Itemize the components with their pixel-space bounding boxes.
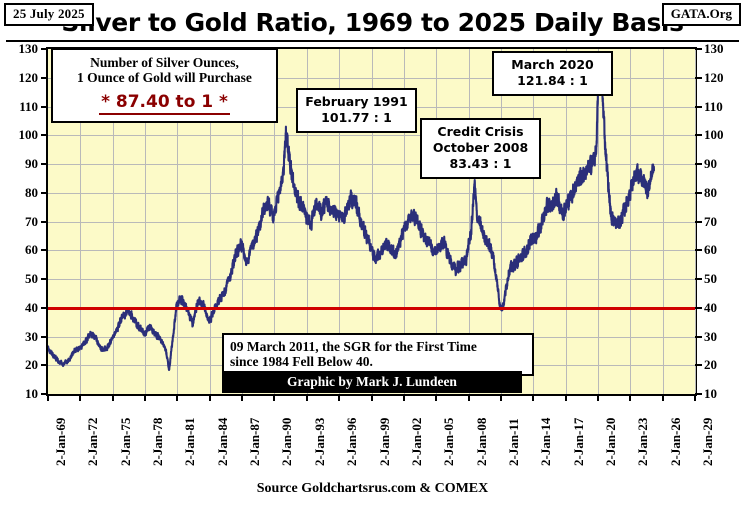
y-axis-label-left-60: 60	[8, 243, 38, 256]
x-axis-label-2-Jan-96: 2-Jan-96	[344, 418, 360, 466]
x-axis-label-2-Jan-78: 2-Jan-78	[150, 418, 166, 466]
x-axis-label-2-Jan-02: 2-Jan-02	[409, 418, 425, 466]
y-tick-right-40	[695, 307, 702, 309]
y-axis-label-right-110: 110	[704, 100, 738, 113]
org-badge: GATA.Org	[662, 3, 741, 26]
x-axis-label-2-Jan-84: 2-Jan-84	[215, 418, 231, 466]
y-tick-left-100	[41, 134, 48, 136]
y-tick-left-90	[41, 163, 48, 165]
x-axis-label-2-Jan-99: 2-Jan-99	[377, 418, 393, 466]
y-axis-label-right-130: 130	[704, 42, 738, 55]
y-axis-label-right-70: 70	[704, 215, 738, 228]
y-axis-label-left-120: 120	[8, 71, 38, 84]
y-tick-right-50	[695, 278, 702, 280]
y-axis-label-left-50: 50	[8, 272, 38, 285]
y-tick-right-100	[695, 134, 702, 136]
x-tick-2-Jan-78	[144, 394, 146, 401]
x-tick-2-Jan-75	[112, 394, 114, 401]
y-tick-left-70	[41, 221, 48, 223]
callout-credit-label2: October 2008	[424, 140, 537, 156]
callout-feb1991-label: February 1991	[300, 94, 413, 110]
callout-mar2020-value: 121.84 : 1	[496, 73, 609, 89]
callout-mar2020-label: March 2020	[496, 57, 609, 73]
y-tick-left-50	[41, 278, 48, 280]
x-tick-2-Jan-14	[532, 394, 534, 401]
x-tick-2-Jan-26	[662, 394, 664, 401]
graphic-credit-bar: Graphic by Mark J. Lundeen	[222, 371, 522, 393]
x-tick-2-Jan-20	[597, 394, 599, 401]
callout-feb1991-value: 101.77 : 1	[300, 110, 413, 126]
x-axis-label-2-Jan-05: 2-Jan-05	[441, 418, 457, 466]
x-axis-label-2-Jan-75: 2-Jan-75	[118, 418, 134, 466]
x-tick-2-Jan-29	[694, 394, 696, 401]
y-tick-right-20	[695, 364, 702, 366]
x-axis-label-2-Jan-90: 2-Jan-90	[279, 418, 295, 466]
x-axis-label-2-Jan-69: 2-Jan-69	[53, 418, 69, 466]
x-axis-label-2-Jan-14: 2-Jan-14	[538, 418, 554, 466]
x-axis-label-2-Jan-26: 2-Jan-26	[668, 418, 684, 466]
y-tick-left-130	[41, 48, 48, 50]
callout-sgr-note: 09 March 2011, the SGR for the First Tim…	[222, 333, 534, 376]
x-tick-2-Jan-72	[79, 394, 81, 401]
x-tick-2-Jan-87	[241, 394, 243, 401]
source-attribution: Source Goldchartsrus.com & COMEX	[0, 481, 745, 497]
y-axis-label-left-20: 20	[8, 358, 38, 371]
y-axis-label-right-120: 120	[704, 71, 738, 84]
x-axis-label-2-Jan-72: 2-Jan-72	[85, 418, 101, 466]
y-axis-label-left-130: 130	[8, 42, 38, 55]
x-tick-2-Jan-81	[176, 394, 178, 401]
title-divider	[6, 40, 739, 42]
x-tick-2-Jan-84	[209, 394, 211, 401]
y-tick-right-80	[695, 192, 702, 194]
y-axis-label-left-10: 10	[8, 387, 38, 400]
y-tick-left-80	[41, 192, 48, 194]
x-tick-2-Jan-23	[629, 394, 631, 401]
x-axis-label-2-Jan-08: 2-Jan-08	[474, 418, 490, 466]
x-tick-2-Jan-08	[468, 394, 470, 401]
y-axis-label-right-60: 60	[704, 243, 738, 256]
y-axis-label-left-100: 100	[8, 128, 38, 141]
x-axis-label-2-Jan-93: 2-Jan-93	[312, 418, 328, 466]
y-tick-right-10	[695, 393, 702, 395]
y-tick-right-120	[695, 77, 702, 79]
callout-headline-line2: 1 Ounce of Gold will Purchase	[57, 70, 272, 85]
y-axis-label-left-90: 90	[8, 157, 38, 170]
callout-sgr-line1: 09 March 2011, the SGR for the First Tim…	[230, 339, 526, 354]
x-tick-2-Jan-99	[371, 394, 373, 401]
y-axis-label-right-30: 30	[704, 330, 738, 343]
threshold-line-40	[48, 307, 695, 310]
x-axis-label-2-Jan-81: 2-Jan-81	[182, 418, 198, 466]
y-axis-label-right-80: 80	[704, 186, 738, 199]
y-tick-right-110	[695, 106, 702, 108]
y-axis-label-right-50: 50	[704, 272, 738, 285]
x-tick-2-Jan-69	[47, 394, 49, 401]
page-title: Silver to Gold Ratio, 1969 to 2025 Daily…	[0, 8, 745, 37]
x-tick-2-Jan-90	[273, 394, 275, 401]
y-tick-left-20	[41, 364, 48, 366]
y-tick-right-90	[695, 163, 702, 165]
x-tick-2-Jan-11	[500, 394, 502, 401]
y-axis-label-left-40: 40	[8, 301, 38, 314]
y-tick-left-40	[41, 307, 48, 309]
y-axis-label-right-90: 90	[704, 157, 738, 170]
y-tick-right-60	[695, 249, 702, 251]
y-tick-left-110	[41, 106, 48, 108]
x-axis-label-2-Jan-11: 2-Jan-11	[506, 418, 522, 466]
y-axis-label-left-30: 30	[8, 330, 38, 343]
callout-current-ratio: Number of Silver Ounces, 1 Ounce of Gold…	[51, 48, 278, 123]
x-tick-2-Jan-93	[306, 394, 308, 401]
y-axis-label-right-100: 100	[704, 128, 738, 141]
y-axis-label-left-110: 110	[8, 100, 38, 113]
callout-february-1991: February 1991 101.77 : 1	[296, 88, 417, 133]
x-tick-2-Jan-17	[565, 394, 567, 401]
x-axis-label-2-Jan-17: 2-Jan-17	[571, 418, 587, 466]
y-tick-left-120	[41, 77, 48, 79]
y-tick-right-70	[695, 221, 702, 223]
x-tick-2-Jan-96	[338, 394, 340, 401]
callout-credit-label1: Credit Crisis	[424, 124, 537, 140]
callout-sgr-line2: since 1984 Fell Below 40.	[230, 354, 526, 369]
callout-credit-value: 83.43 : 1	[424, 156, 537, 172]
y-axis-label-right-10: 10	[704, 387, 738, 400]
callout-headline-line1: Number of Silver Ounces,	[57, 55, 272, 70]
y-axis-label-right-40: 40	[704, 301, 738, 314]
y-tick-left-30	[41, 336, 48, 338]
y-tick-right-130	[695, 48, 702, 50]
y-axis-label-right-20: 20	[704, 358, 738, 371]
y-tick-left-60	[41, 249, 48, 251]
x-axis-label-2-Jan-23: 2-Jan-23	[635, 418, 651, 466]
x-tick-2-Jan-05	[435, 394, 437, 401]
callout-headline-value: * 87.40 to 1 *	[99, 92, 230, 115]
x-axis-label-2-Jan-87: 2-Jan-87	[247, 418, 263, 466]
y-axis-label-left-70: 70	[8, 215, 38, 228]
x-axis-label-2-Jan-20: 2-Jan-20	[603, 418, 619, 466]
y-tick-right-30	[695, 336, 702, 338]
date-badge: 25 July 2025	[4, 3, 94, 26]
callout-march-2020: March 2020 121.84 : 1	[492, 51, 613, 96]
x-axis-label-2-Jan-29: 2-Jan-29	[700, 418, 716, 466]
x-tick-2-Jan-02	[403, 394, 405, 401]
y-axis-label-left-80: 80	[8, 186, 38, 199]
callout-credit-crisis: Credit Crisis October 2008 83.43 : 1	[420, 118, 541, 179]
